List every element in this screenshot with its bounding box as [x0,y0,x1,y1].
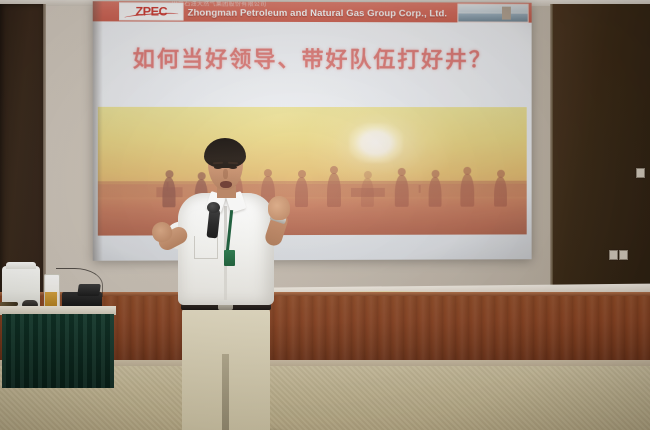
microphone-head-icon [207,202,220,213]
presenter-badge [224,250,235,266]
wall-outlet-left[interactable] [609,250,618,260]
left-wood-panel [0,4,43,300]
presenter-hand-left [268,196,290,220]
thumbnail-sky [458,4,527,12]
wall-switch-upper[interactable] [636,168,645,178]
screen-left-shading [93,1,103,261]
tea-liquid [45,292,57,307]
table-skirt [2,314,114,388]
presenter-mouth [220,181,232,188]
water-dispenser-lid[interactable] [6,262,36,269]
banner-company-name-en: Zhongman Petroleum and Natural Gas Group… [188,8,447,20]
right-wood-panel [552,4,650,304]
zpec-logo-swoosh-icon [124,12,179,21]
presenter-nose [223,169,228,179]
presentation-scene: 如何当好领导、带好队伍打好井？ 中曼石油天然气集团股份有限公司 ZPEC Zho… [0,0,650,430]
presenter [160,138,300,430]
presenter-shirt-pocket [194,236,218,259]
right-wood-panel-edge [550,4,553,304]
presenter-leg-separation [222,354,229,430]
slide-banner: 中曼石油天然气集团股份有限公司 ZPEC Zhongman Petroleum … [93,1,532,22]
presenter-eye-right [229,166,237,169]
thumbnail-sea [458,14,527,22]
laptop-lid[interactable] [77,284,101,296]
side-table [0,262,116,382]
wall-outlet-right[interactable] [619,250,628,260]
rig-photo-thumbnail [457,4,528,23]
presenter-eye-left [214,166,222,169]
slide-title: 如何当好领导、带好队伍打好井？ [93,41,532,74]
zpec-logo: ZPEC [119,2,184,20]
left-wood-panel-edge [43,4,46,300]
presenter-hair [204,138,246,168]
thumbnail-rig-icon [502,7,511,20]
